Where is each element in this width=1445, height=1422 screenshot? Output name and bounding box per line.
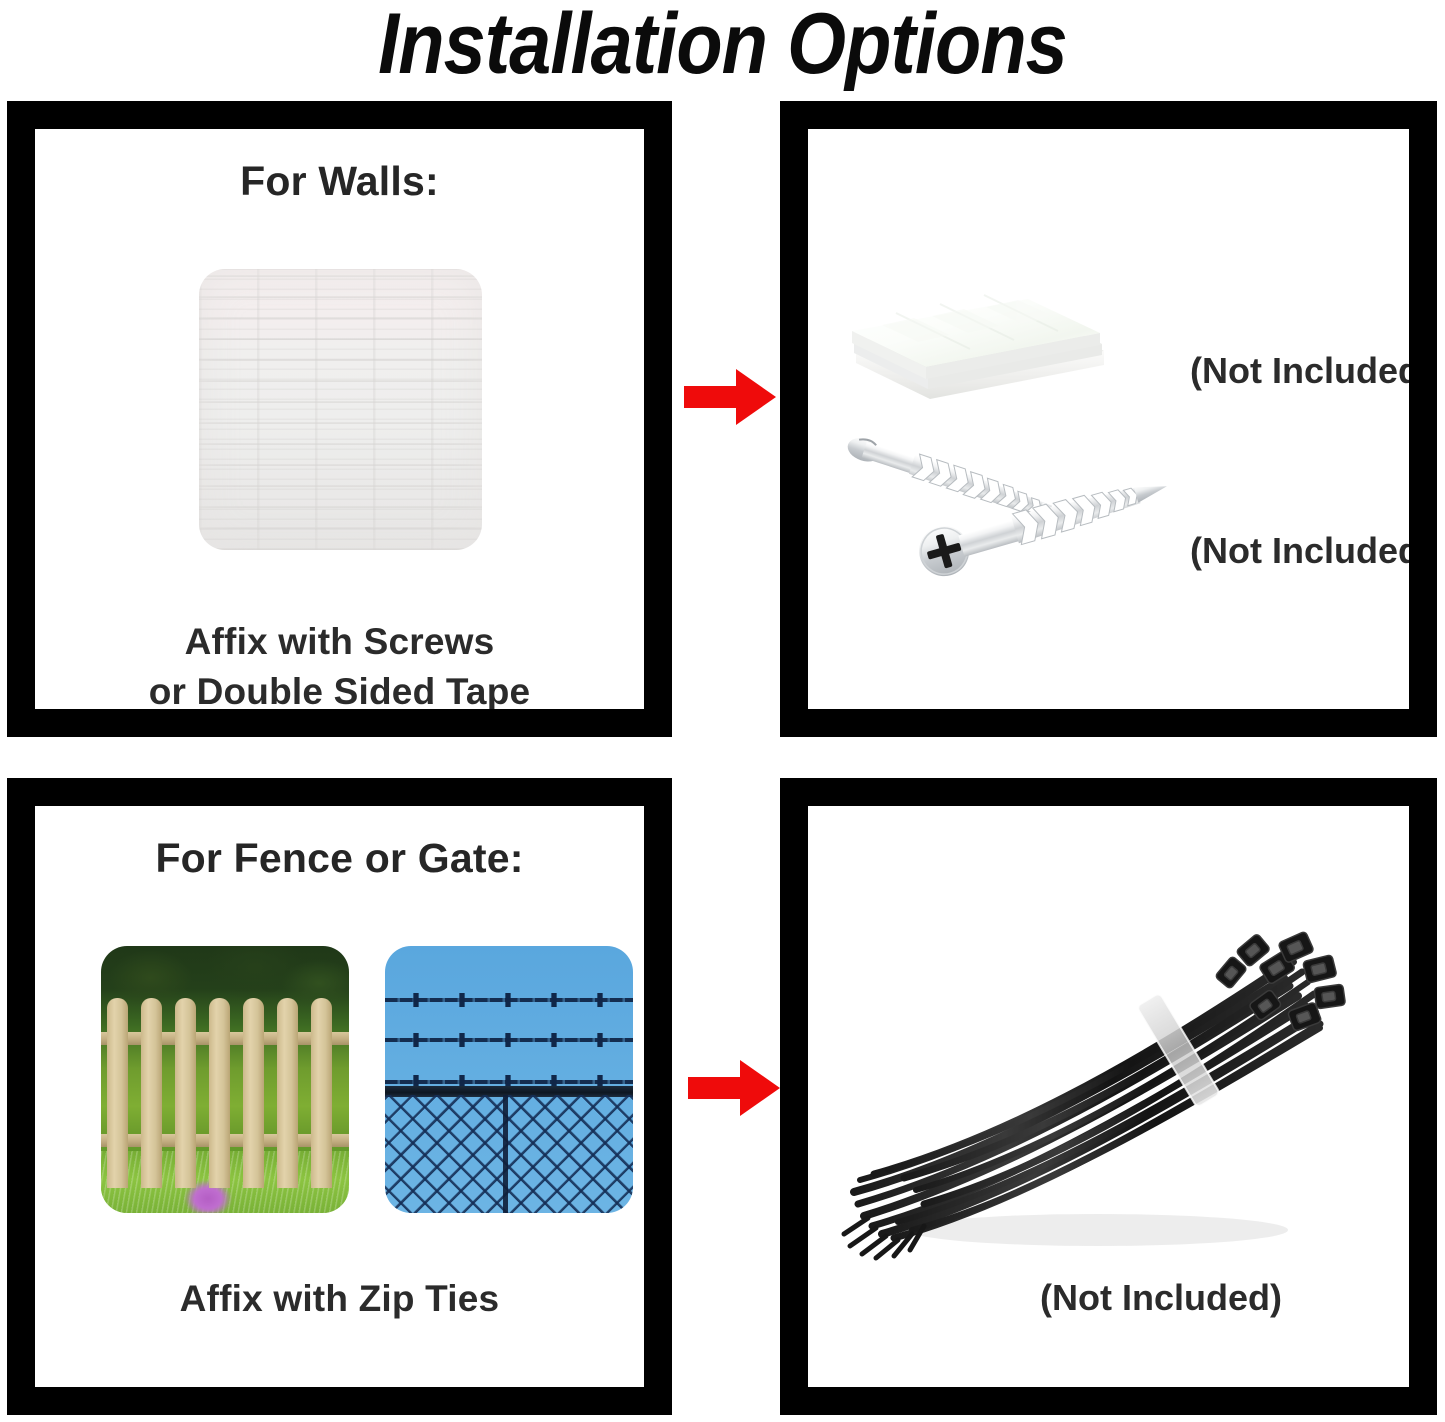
page-title: Installation Options <box>87 0 1359 92</box>
for-walls-heading: For Walls: <box>35 157 644 205</box>
panel-for-walls-content: For Walls: Affix with Screws or Double S… <box>35 129 644 709</box>
fence-picket <box>107 998 128 1188</box>
tape-not-included-label: (Not Included) <box>1190 351 1409 391</box>
barbed-wire-strand <box>385 998 633 1002</box>
fence-picket <box>243 998 264 1188</box>
red-right-arrow-icon <box>688 1060 780 1116</box>
barbed-wire-strand <box>385 1038 633 1042</box>
panel-for-walls: For Walls: Affix with Screws or Double S… <box>7 101 672 737</box>
installation-options-infographic: Installation Options For Walls: Affix wi… <box>0 0 1445 1422</box>
panel-for-fence-or-gate: For Fence or Gate: <box>7 778 672 1415</box>
chain-link-mesh <box>385 1095 633 1213</box>
fence-caption: Affix with Zip Ties <box>35 1274 644 1324</box>
red-right-arrow-icon <box>684 369 776 425</box>
fence-picket <box>311 998 332 1188</box>
wood-screws-image <box>828 425 1188 605</box>
fence-picket <box>141 998 162 1188</box>
walls-caption-line-1: Affix with Screws <box>35 617 644 667</box>
panel-fence-hardware-content: (Not Included) <box>808 806 1409 1387</box>
black-zip-ties-bundle-image <box>828 878 1368 1278</box>
walls-caption-line-2: or Double Sided Tape <box>35 667 644 709</box>
zip-ties-not-included-label: (Not Included) <box>1040 1278 1282 1318</box>
fence-post <box>503 1095 508 1213</box>
wooden-picket-fence-image <box>101 946 349 1213</box>
white-brick-wall-image <box>199 269 482 550</box>
walls-caption: Affix with Screws or Double Sided Tape <box>35 617 644 709</box>
panel-wall-hardware: (Not Included) <box>780 101 1437 737</box>
double-sided-tape-stack-image <box>846 245 1116 415</box>
chain-link-barbed-wire-fence-image <box>385 946 633 1213</box>
for-fence-heading: For Fence or Gate: <box>35 834 644 882</box>
fence-picket <box>175 998 196 1188</box>
fence-picket <box>277 998 298 1188</box>
screws-not-included-label: (Not Included) <box>1190 531 1409 571</box>
panel-for-fence-content: For Fence or Gate: <box>35 806 644 1387</box>
barbed-wire-strand <box>385 1080 633 1084</box>
panel-fence-hardware: (Not Included) <box>780 778 1437 1415</box>
fence-picket <box>209 998 230 1188</box>
panel-wall-hardware-content: (Not Included) <box>808 129 1409 709</box>
